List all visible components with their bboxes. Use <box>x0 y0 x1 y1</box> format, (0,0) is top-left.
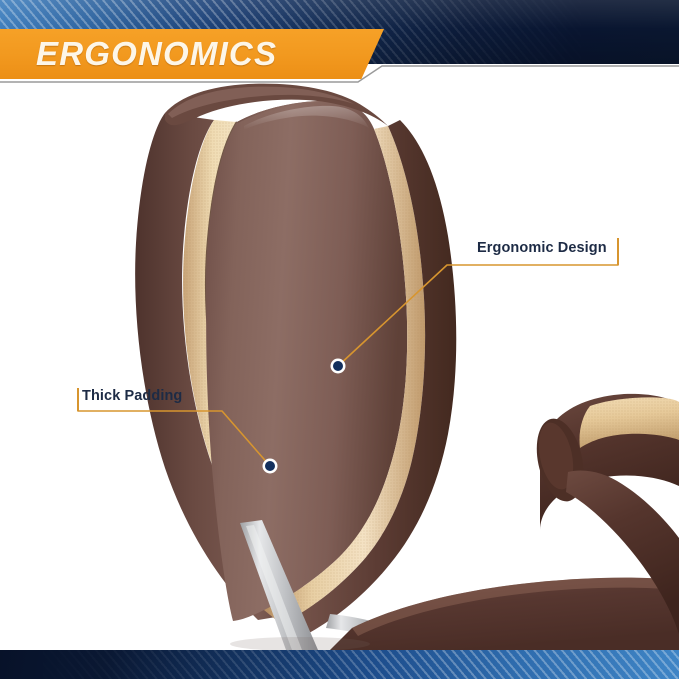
callout-label-thick-padding: Thick Padding <box>82 388 182 404</box>
footer-banner <box>0 650 679 679</box>
callout-label-ergonomic-design: Ergonomic Design <box>477 240 607 256</box>
page-title: ERGONOMICS <box>36 29 386 79</box>
product-illustration <box>0 68 679 650</box>
footer-stripe-pattern <box>0 650 679 679</box>
infographic-canvas: ERGONOMICS Ergonomic Design Thick Paddin… <box>0 0 679 679</box>
product-photo <box>0 68 679 650</box>
